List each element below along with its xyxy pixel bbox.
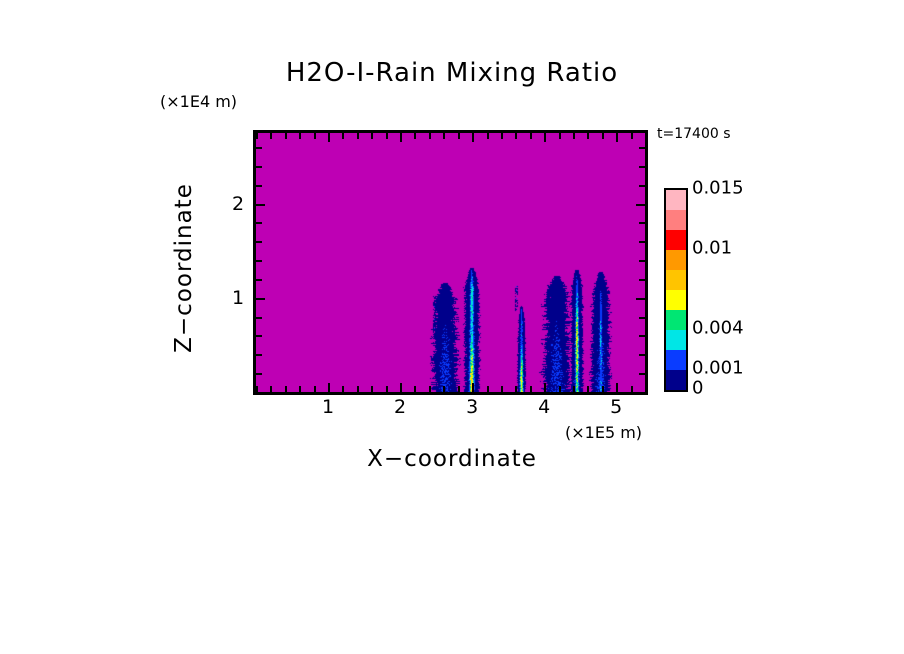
colorbar-label-0: 0.015 [692, 178, 744, 199]
y-axis-title-text: Z−coordinate [171, 168, 197, 368]
x-axis-title: X−coordinate [0, 446, 904, 472]
colorbar-band-9 [666, 370, 686, 390]
page-title: H2O-I-Rain Mixing Ratio [0, 58, 904, 88]
colorbar-band-8 [666, 350, 686, 370]
y-tick-left [256, 392, 262, 394]
figure-canvas: H2O-I-Rain Mixing Ratio (×1E4 m) t=17400… [0, 0, 904, 654]
y-axis-title: Z−coordinate [171, 0, 197, 168]
x-axis-unit-label: (×1E5 m) [565, 423, 642, 442]
colorbar-band-1 [666, 210, 686, 230]
time-stamp-annotation: t=17400 s [657, 126, 731, 142]
colorbar-band-6 [666, 310, 686, 330]
colorbar-band-4 [666, 270, 686, 290]
colorbar-label-1: 0.01 [692, 238, 732, 259]
colorbar-band-7 [666, 330, 686, 350]
colorbar-band-2 [666, 230, 686, 250]
x-tick-label-4: 4 [538, 396, 550, 418]
colorbar-label-2: 0.004 [692, 318, 744, 339]
x-tick-label-1: 1 [322, 396, 334, 418]
colorbar [664, 188, 688, 392]
x-tick-label-3: 3 [466, 396, 478, 418]
colorbar-band-5 [666, 290, 686, 310]
colorbar-label-3: 0.001 [692, 358, 744, 379]
colorbar-band-0 [666, 190, 686, 210]
y-tick-label-1: 1 [232, 287, 244, 309]
heatmap-plot [256, 133, 645, 392]
x-tick-label-5: 5 [610, 396, 622, 418]
y-tick-label-2: 2 [232, 193, 244, 215]
colorbar-label-4: 0 [692, 378, 703, 399]
colorbar-band-3 [666, 250, 686, 270]
y-tick-right [639, 392, 645, 394]
x-tick-label-2: 2 [394, 396, 406, 418]
